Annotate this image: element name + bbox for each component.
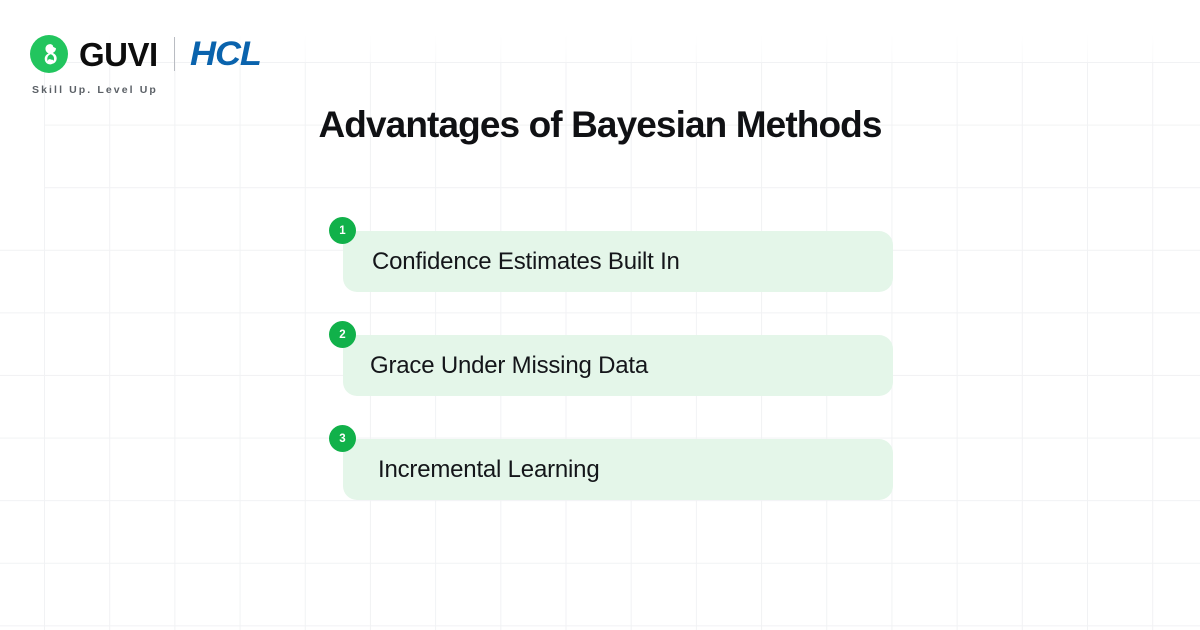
list-item-label: Confidence Estimates Built In bbox=[343, 250, 680, 274]
brand-lockup: GUVI HCL Skill Up. Level Up bbox=[30, 32, 257, 96]
list-item-number-badge: 3 bbox=[329, 425, 356, 452]
page-title: Advantages of Bayesian Methods bbox=[0, 104, 1200, 146]
list-item-number-badge: 1 bbox=[329, 217, 356, 244]
list-item-card: Confidence Estimates Built In bbox=[343, 231, 893, 292]
list-item-label: Incremental Learning bbox=[343, 458, 599, 482]
list-item: Confidence Estimates Built In 1 bbox=[343, 231, 893, 292]
brand-row: GUVI HCL bbox=[30, 32, 257, 76]
hcl-wordmark: HCL bbox=[190, 37, 261, 71]
list-item: Incremental Learning 3 bbox=[343, 439, 893, 500]
list-item-number-badge: 2 bbox=[329, 321, 356, 348]
list-item-card: Incremental Learning bbox=[343, 439, 893, 500]
list-item-card: Grace Under Missing Data bbox=[343, 335, 893, 396]
brand-tagline: Skill Up. Level Up bbox=[32, 84, 158, 96]
slide-canvas: GUVI HCL Skill Up. Level Up Advantages o… bbox=[0, 0, 1200, 630]
advantages-list: Confidence Estimates Built In 1 Grace Un… bbox=[343, 231, 893, 500]
list-item: Grace Under Missing Data 2 bbox=[343, 335, 893, 396]
list-item-label: Grace Under Missing Data bbox=[343, 354, 648, 378]
guvi-g-mark-icon bbox=[30, 35, 68, 73]
background-grid-left-fade bbox=[0, 0, 44, 200]
brand-divider bbox=[174, 37, 175, 71]
guvi-wordmark: GUVI bbox=[79, 38, 158, 71]
